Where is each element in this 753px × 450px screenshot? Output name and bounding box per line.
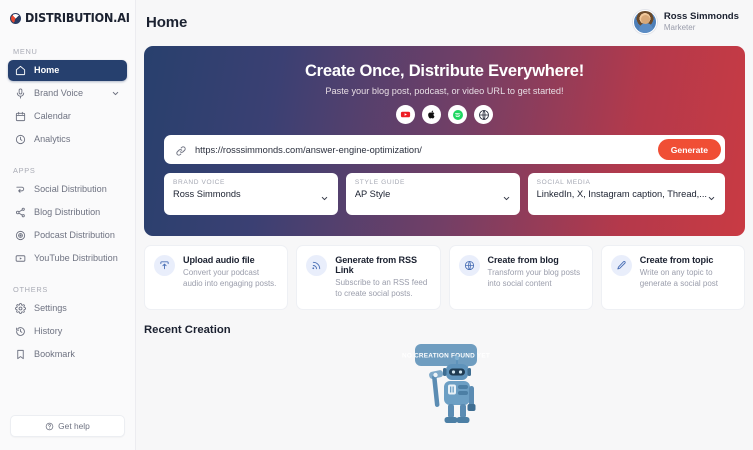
social-media-label: SOCIAL MEDIA [537,179,716,186]
rss-icon [306,255,327,276]
home-icon [15,65,26,76]
bookmark-icon [15,349,26,360]
sidebar-item-youtube-distribution[interactable]: YouTube Distribution [8,248,127,269]
sidebar-item-label: Bookmark [34,350,75,359]
sidebar-item-label: Social Distribution [34,185,107,194]
sidebar-item-brand-voice[interactable]: Brand Voice [8,83,127,104]
web-globe-icon[interactable] [474,105,493,124]
share-nodes-icon [15,184,26,195]
sidebar-item-label: Home [34,66,59,75]
user-text-block: Ross Simmonds Marketer [664,11,739,33]
sidebar-section-apps-label: APPS [0,166,135,179]
svg-text:NO CREATION FOUND YET: NO CREATION FOUND YET [401,353,489,360]
sidebar-section-others-label: OTHERS [0,285,135,298]
hero-subtitle: Paste your blog post, podcast, or video … [158,86,731,96]
avatar [633,10,657,34]
main-content: Home Ross Simmonds Marketer Create Once,… [136,0,753,450]
card-create-from-blog[interactable]: Create from blog Transform your blog pos… [449,245,593,310]
user-role: Marketer [664,23,739,33]
get-help-label: Get help [58,421,90,431]
chevron-down-icon[interactable] [320,190,329,199]
sidebar-item-calendar[interactable]: Calendar [8,106,127,127]
style-guide-label: STYLE GUIDE [355,179,511,186]
link-icon [175,144,187,156]
sidebar-section-menu-label: MENU [0,47,135,60]
brand-logo[interactable]: DISTRIBUTION.AI [0,0,135,25]
youtube-icon[interactable] [396,105,415,124]
sidebar-item-bookmark[interactable]: Bookmark [8,344,127,365]
get-help-button[interactable]: Get help [10,415,125,437]
card-upload-audio-file[interactable]: Upload audio file Convert your podcast a… [144,245,288,310]
sidebar-item-label: Settings [34,304,67,313]
card-title: Upload audio file [183,255,278,265]
robot-with-wrench-illustration: NO CREATION FOUND YET [397,342,493,428]
apple-podcasts-icon[interactable] [422,105,441,124]
card-description: Write on any topic to generate a social … [640,267,735,289]
clock-analytics-icon [15,134,26,145]
sidebar-item-label: Calendar [34,112,71,121]
brand-voice-value: Ross Simmonds [173,189,241,199]
calendar-icon [15,111,26,122]
style-guide-value-row: AP Style [355,189,511,199]
chevron-down-icon[interactable] [502,190,511,199]
globe-icon [459,255,480,276]
url-input[interactable]: https://rosssimmonds.com/answer-engine-o… [195,145,650,155]
card-create-from-topic[interactable]: Create from topic Write on any topic to … [601,245,745,310]
sidebar-item-label: YouTube Distribution [34,254,118,263]
sidebar-item-label: Analytics [34,135,70,144]
top-bar: Home Ross Simmonds Marketer [136,0,753,44]
user-name: Ross Simmonds [664,11,739,23]
url-input-bar[interactable]: https://rosssimmonds.com/answer-engine-o… [164,135,725,164]
blog-network-icon [15,207,26,218]
sidebar-item-social-distribution[interactable]: Social Distribution [8,179,127,200]
sidebar: DISTRIBUTION.AI MENU Home Brand Voice Ca… [0,0,136,450]
card-text-block: Upload audio file Convert your podcast a… [183,255,278,299]
upload-audio-icon [154,255,175,276]
sidebar-item-label: Podcast Distribution [34,231,115,240]
style-guide-value: AP Style [355,189,391,199]
card-text-block: Generate from RSS Link Subscribe to an R… [335,255,430,299]
hero-title: Create Once, Distribute Everywhere! [158,62,731,81]
chevron-down-icon[interactable] [111,89,120,98]
card-description: Convert your podcast audio into engaging… [183,267,278,289]
brand-voice-label: BRAND VOICE [173,179,329,186]
app-root: DISTRIBUTION.AI MENU Home Brand Voice Ca… [0,0,753,450]
recent-creation-title: Recent Creation [144,324,753,336]
sidebar-item-label: Blog Distribution [34,208,100,217]
microphone-icon [15,88,26,99]
card-text-block: Create from blog Transform your blog pos… [488,255,583,299]
style-guide-select[interactable]: STYLE GUIDE AP Style [346,173,520,215]
youtube-icon [15,253,26,264]
sidebar-spacer [0,367,135,415]
hero-banner: Create Once, Distribute Everywhere! Past… [144,46,745,236]
brand-voice-select[interactable]: BRAND VOICE Ross Simmonds [164,173,338,215]
social-media-value: LinkedIn, X, Instagram caption, Thread,.… [537,189,707,199]
generate-button[interactable]: Generate [658,139,721,160]
sidebar-item-label: History [34,327,62,336]
brand-voice-value-row: Ross Simmonds [173,189,329,199]
recent-creation-empty-state: NO CREATION FOUND YET [136,342,753,428]
brand-name: DISTRIBUTION.AI [25,11,130,25]
card-title: Generate from RSS Link [335,255,430,275]
droplet-logo-icon [10,13,21,24]
pencil-icon [611,255,632,276]
social-media-select[interactable]: SOCIAL MEDIA LinkedIn, X, Instagram capt… [528,173,725,215]
sidebar-item-blog-distribution[interactable]: Blog Distribution [8,202,127,223]
quick-action-cards: Upload audio file Convert your podcast a… [144,245,745,310]
user-profile-menu[interactable]: Ross Simmonds Marketer [633,10,739,34]
sidebar-item-history[interactable]: History [8,321,127,342]
sidebar-item-analytics[interactable]: Analytics [8,129,127,150]
card-description: Transform your blog posts into social co… [488,267,583,289]
spotify-icon[interactable] [448,105,467,124]
chevron-down-icon[interactable] [707,190,716,199]
sidebar-item-settings[interactable]: Settings [8,298,127,319]
sidebar-item-label: Brand Voice [34,89,83,98]
sidebar-item-home[interactable]: Home [8,60,127,81]
generation-selectors: BRAND VOICE Ross Simmonds STYLE GUIDE AP… [164,173,725,215]
card-title: Create from topic [640,255,735,265]
card-generate-from-rss-link[interactable]: Generate from RSS Link Subscribe to an R… [296,245,440,310]
card-title: Create from blog [488,255,583,265]
social-media-value-row: LinkedIn, X, Instagram caption, Thread,.… [537,189,716,199]
card-description: Subscribe to an RSS feed to create socia… [335,277,430,299]
source-platform-icons [158,105,731,124]
help-circle-icon [45,422,54,431]
card-text-block: Create from topic Write on any topic to … [640,255,735,299]
sidebar-item-podcast-distribution[interactable]: Podcast Distribution [8,225,127,246]
gear-icon [15,303,26,314]
history-clock-icon [15,326,26,337]
podcast-icon [15,230,26,241]
page-title: Home [146,14,187,31]
